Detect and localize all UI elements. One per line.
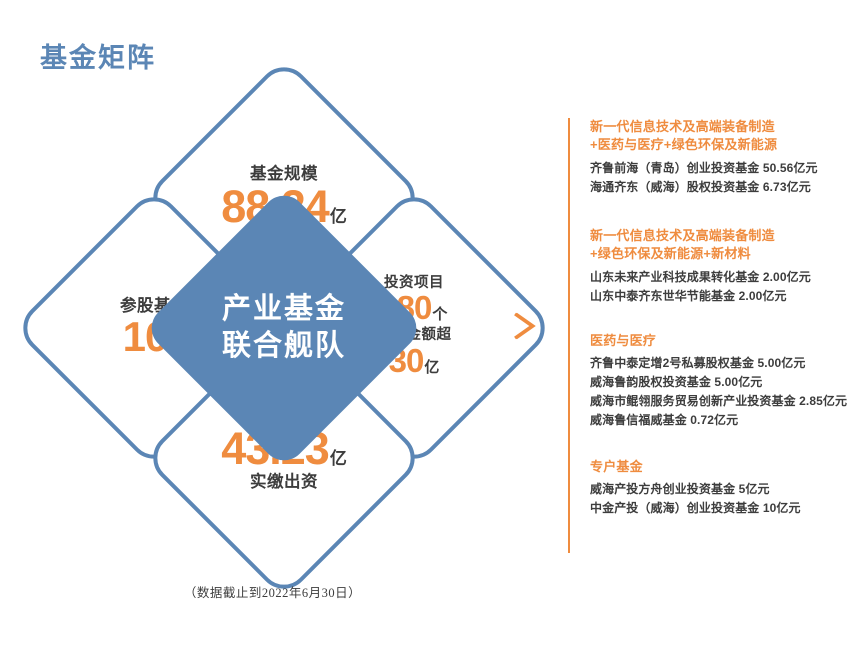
fund-list-item: 威海产投方舟创业投资基金 5亿元 bbox=[590, 480, 854, 499]
fund-list-item: 威海鲁韵股权投资基金 5.00亿元 bbox=[590, 373, 854, 392]
fund-category-title-line: 专户基金 bbox=[590, 458, 854, 476]
center-diamond-industry-fund-fleet[interactable]: 产业基金 联合舰队 bbox=[143, 187, 426, 470]
center-title-line-2: 联合舰队 bbox=[222, 328, 346, 365]
fund-category-title-line: +医药与医疗+绿色环保及新能源 bbox=[590, 136, 854, 154]
fund-list-item: 中金产投（威海）创业投资基金 10亿元 bbox=[590, 499, 854, 518]
fund-category-title: 新一代信息技术及高端装备制造 +医药与医疗+绿色环保及新能源 bbox=[590, 118, 854, 155]
fund-category-title-line: +绿色环保及新能源+新材料 bbox=[590, 245, 854, 263]
fund-list-item: 山东中泰齐东世华节能基金 2.00亿元 bbox=[590, 287, 854, 306]
fund-list-item: 齐鲁中泰定增2号私募股权基金 5.00亿元 bbox=[590, 354, 854, 373]
fund-category-section: 医药与医疗 齐鲁中泰定增2号私募股权基金 5.00亿元 威海鲁韵股权投资基金 5… bbox=[590, 332, 854, 430]
fund-matrix-diagram: 基金规模 88.24 亿 参股基金 10 支 投资项目 约 80 个 投资金额超 bbox=[36, 80, 536, 560]
fund-scale-unit: 亿 bbox=[330, 208, 347, 227]
investment-projects-unit: 个 bbox=[432, 307, 447, 322]
fund-list-item: 齐鲁前海（青岛）创业投资基金 50.56亿元 bbox=[590, 159, 854, 178]
fund-category-section: 新一代信息技术及高端装备制造 +绿色环保及新能源+新材料 山东未来产业科技成果转… bbox=[590, 227, 854, 306]
investment-amount-unit: 亿 bbox=[424, 360, 439, 375]
fund-list-item: 威海市鲲翎服务贸易创新产业投资基金 2.85亿元 bbox=[590, 392, 854, 411]
fund-list-item: 山东未来产业科技成果转化基金 2.00亿元 bbox=[590, 268, 854, 287]
fund-list-item: 海通齐东（威海）股权投资基金 6.73亿元 bbox=[590, 178, 854, 197]
fund-category-title-line: 新一代信息技术及高端装备制造 bbox=[590, 118, 854, 136]
fund-category-title: 医药与医疗 bbox=[590, 332, 854, 350]
fund-category-title-line: 医药与医疗 bbox=[590, 332, 854, 350]
page-title: 基金矩阵 bbox=[40, 36, 156, 75]
fund-category-title-line: 新一代信息技术及高端装备制造 bbox=[590, 227, 854, 245]
fund-category-section: 新一代信息技术及高端装备制造 +医药与医疗+绿色环保及新能源 齐鲁前海（青岛）创… bbox=[590, 118, 854, 197]
center-title-line-1: 产业基金 bbox=[222, 291, 346, 328]
paid-in-capital-label: 实缴出资 bbox=[250, 473, 318, 491]
fund-category-list: 新一代信息技术及高端装备制造 +医药与医疗+绿色环保及新能源 齐鲁前海（青岛）创… bbox=[568, 118, 854, 553]
fund-category-section: 专户基金 威海产投方舟创业投资基金 5亿元 中金产投（威海）创业投资基金 10亿… bbox=[590, 458, 854, 518]
center-diamond-content: 产业基金 联合舰队 bbox=[184, 228, 384, 428]
fund-category-title: 新一代信息技术及高端装备制造 +绿色环保及新能源+新材料 bbox=[590, 227, 854, 264]
investment-projects-label: 投资项目 bbox=[384, 276, 444, 291]
paid-in-capital-unit: 亿 bbox=[330, 450, 347, 469]
fund-list-item: 威海鲁信福威基金 0.72亿元 bbox=[590, 411, 854, 430]
data-cutoff-footnote: （数据截止到2022年6月30日） bbox=[0, 582, 545, 601]
fund-category-title: 专户基金 bbox=[590, 458, 854, 476]
